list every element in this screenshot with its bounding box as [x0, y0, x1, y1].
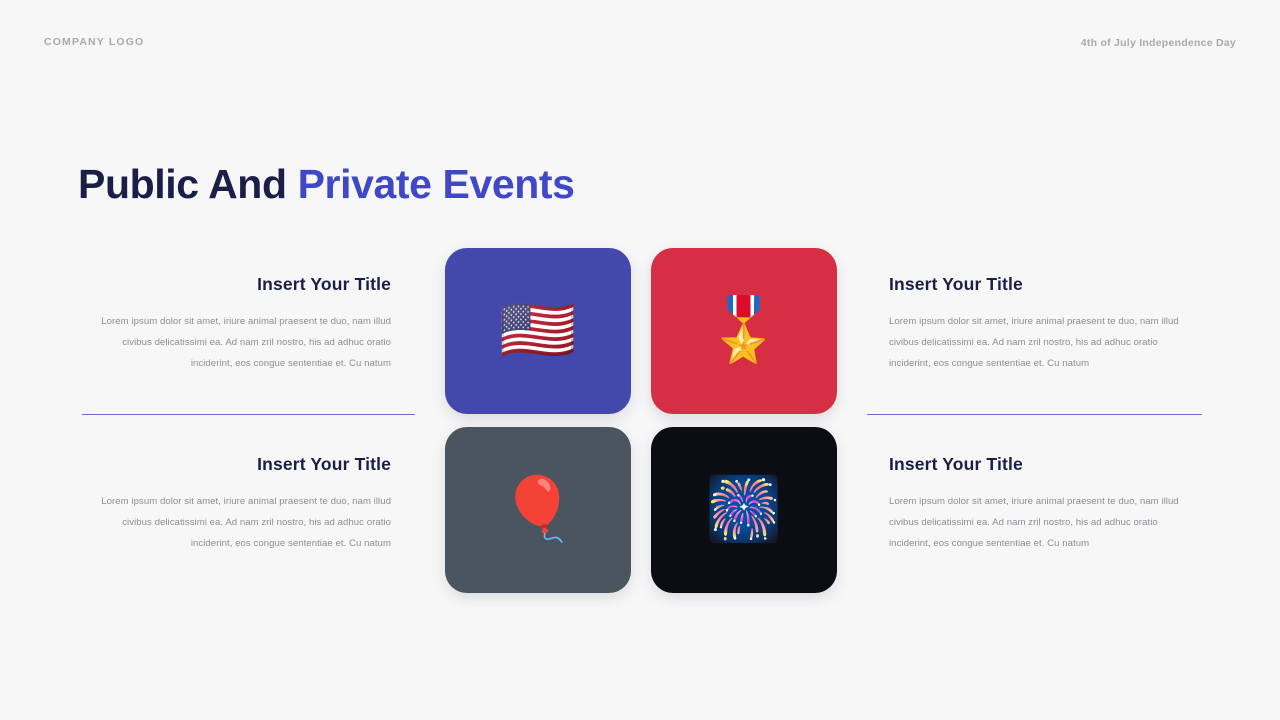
icon-card-balloons[interactable]: 🎈: [445, 427, 631, 593]
text-block-top-left: Insert Your Title Lorem ipsum dolor sit …: [81, 274, 391, 374]
icon-card-us-flag[interactable]: 🇺🇸: [445, 248, 631, 414]
icon-card-military-medal[interactable]: 🎖️: [651, 248, 837, 414]
us-flag-icon: 🇺🇸: [499, 300, 576, 362]
company-logo: COMPANY LOGO: [44, 36, 144, 48]
firecracker-icon: 🎆: [705, 479, 782, 541]
text-block-title: Insert Your Title: [889, 274, 1199, 295]
page-title-dark-part: Public And: [78, 161, 298, 207]
text-block-title: Insert Your Title: [81, 274, 391, 295]
page-title: Public And Private Events: [78, 158, 575, 210]
text-block-body: Lorem ipsum dolor sit amet, iriure anima…: [889, 311, 1199, 374]
divider-right: [867, 414, 1202, 415]
divider-left: [82, 414, 415, 415]
text-block-body: Lorem ipsum dolor sit amet, iriure anima…: [81, 311, 391, 374]
text-block-body: Lorem ipsum dolor sit amet, iriure anima…: [889, 491, 1199, 554]
slide-canvas: COMPANY LOGO 4th of July Independence Da…: [0, 0, 1280, 720]
text-block-top-right: Insert Your Title Lorem ipsum dolor sit …: [889, 274, 1199, 374]
text-block-bottom-left: Insert Your Title Lorem ipsum dolor sit …: [81, 454, 391, 554]
icon-card-firecracker[interactable]: 🎆: [651, 427, 837, 593]
text-block-title: Insert Your Title: [889, 454, 1199, 475]
text-block-bottom-right: Insert Your Title Lorem ipsum dolor sit …: [889, 454, 1199, 554]
slide-tagline: 4th of July Independence Day: [1081, 37, 1236, 49]
military-medal-icon: 🎖️: [705, 300, 782, 362]
text-block-body: Lorem ipsum dolor sit amet, iriure anima…: [81, 491, 391, 554]
page-title-accent-part: Private Events: [298, 161, 575, 207]
text-block-title: Insert Your Title: [81, 454, 391, 475]
balloons-icon: 🎈: [499, 479, 576, 541]
